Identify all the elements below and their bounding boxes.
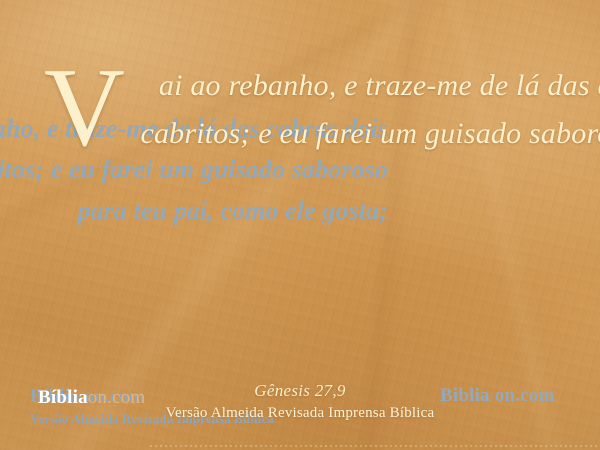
- verse-text: Vai ao rebanho, e traze-me de lá das cab…: [44, 62, 600, 206]
- reference-block: Gênesis 27,9 Versão Almeida Revisada Imp…: [0, 380, 600, 423]
- bible-version-label: Versão Almeida Revisada Imprensa Bíblica: [0, 403, 600, 423]
- verse-image-canvas: Vai ao rebanho, e traze-me de lá das cab…: [0, 0, 600, 450]
- verse-citation: Gênesis 27,9: [0, 380, 600, 401]
- verse-dropcap: V: [44, 66, 125, 151]
- verse-body: ai ao rebanho, e traze-me de lá das cabr…: [140, 69, 600, 198]
- bottom-dotted-rule: [150, 445, 600, 447]
